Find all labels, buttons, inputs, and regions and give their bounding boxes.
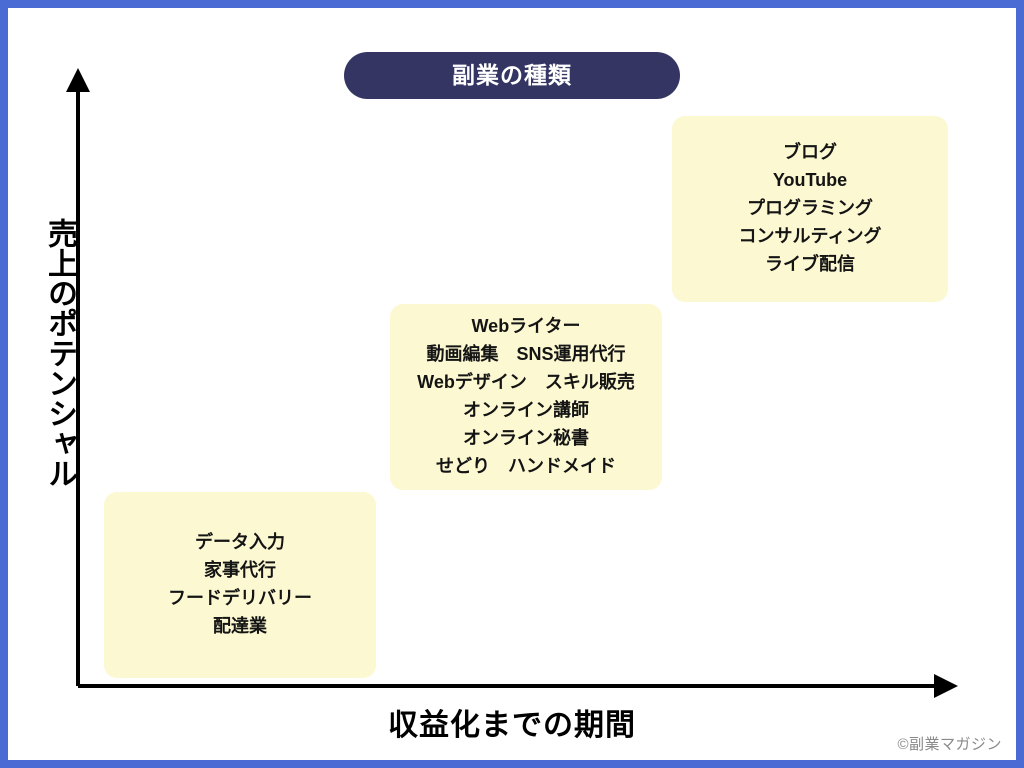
x-axis-label: 収益化までの期間 [8,700,1016,744]
list-item: ライブ配信 [765,251,855,279]
chart-title-text: 副業の種類 [452,64,572,87]
list-item: Webライター [472,313,581,341]
slide-frame: 副業の種類 売上のポテンシャル 収益化までの期間 ブログ YouTube プログ… [0,0,1024,768]
list-item: データ入力 [195,529,285,557]
category-box-mid: Webライター 動画編集 SNS運用代行 Webデザイン スキル販売 オンライン… [390,304,662,490]
list-item: プログラミング [747,195,873,223]
list-item: フードデリバリー [168,585,312,613]
list-item: 配達業 [213,613,267,641]
list-item: YouTube [773,167,847,195]
category-box-high: ブログ YouTube プログラミング コンサルティング ライブ配信 [672,116,948,302]
chart-title-banner: 副業の種類 [344,52,680,99]
list-item: Webデザイン スキル販売 [417,369,635,397]
category-box-low: データ入力 家事代行 フードデリバリー 配達業 [104,492,376,678]
y-axis-label: 売上のポテンシャル [26,218,74,488]
list-item: オンライン講師 [463,397,589,425]
list-item: 家事代行 [204,557,276,585]
slide-canvas: 副業の種類 売上のポテンシャル 収益化までの期間 ブログ YouTube プログ… [8,8,1016,760]
list-item: 動画編集 SNS運用代行 [426,341,625,369]
list-item: オンライン秘書 [463,425,589,453]
list-item: せどり ハンドメイド [436,453,616,481]
list-item: ブログ [783,139,837,167]
list-item: コンサルティング [739,223,882,251]
copyright-notice: ©副業マガジン [897,733,1002,754]
